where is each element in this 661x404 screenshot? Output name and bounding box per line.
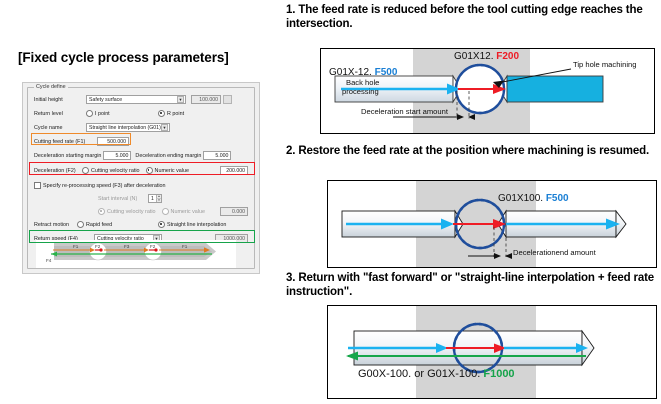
decel-f2-opt2-label: Numeric value xyxy=(155,168,189,174)
svg-text:F2: F2 xyxy=(95,244,101,249)
anno-deceleration-end-amount: Decelerationend amount xyxy=(513,248,596,257)
f3-option-ratio[interactable]: Cutting velocity ratio xyxy=(98,208,156,215)
initial-height-combo[interactable]: Safety surface ▼ xyxy=(86,95,186,104)
row-cutting-feed-rate: Cutting feed rate (F1) 500.000 xyxy=(34,136,248,147)
radio-icon[interactable] xyxy=(158,221,165,228)
radio-icon[interactable] xyxy=(162,208,169,215)
decel-end-label: Deceleration ending margin xyxy=(135,153,201,159)
cycle-define-group: Cycle define Initial height Safety surfa… xyxy=(27,87,255,269)
radio-icon[interactable] xyxy=(146,167,153,174)
step-1-code-left: G01X-12. F500 xyxy=(329,67,397,78)
radio-icon[interactable] xyxy=(98,208,105,215)
row-deceleration-margins: Deceleration starting margin 5.000 Decel… xyxy=(34,150,248,161)
radio-icon[interactable] xyxy=(86,110,93,117)
retract-opt2-label: Straight line interpolation xyxy=(167,222,226,228)
decel-f2-option-numeric[interactable]: Numeric value xyxy=(146,167,189,174)
browse-icon[interactable] xyxy=(223,95,232,104)
retract-opt1-label: Rapid feed xyxy=(86,222,112,228)
svg-text:F3: F3 xyxy=(124,244,130,249)
svg-text:F2: F2 xyxy=(150,244,156,249)
code-text: G00X-100. or G01X-100. xyxy=(358,368,483,380)
row-deceleration-f2: Deceleration (F2) Cutting velocity ratio… xyxy=(34,165,248,176)
row-initial-height: Initial height Safety surface ▼ 100.000 xyxy=(34,94,248,105)
radio-icon[interactable] xyxy=(158,110,165,117)
step-3-panel: G00X-100. or G01X-100. F1000 xyxy=(327,305,657,399)
step-3-code: G00X-100. or G01X-100. F1000 xyxy=(358,368,515,380)
row-f3-options: Cutting velocity ratio Numeric value 0.0… xyxy=(34,206,248,217)
feed-value: F500 xyxy=(375,67,398,78)
retract-option-straight[interactable]: Straight line interpolation xyxy=(158,221,226,228)
anno-processing: processing xyxy=(342,87,379,96)
feed-value: F500 xyxy=(546,193,569,204)
feed-value: F1000 xyxy=(483,368,514,380)
return-level-label: Return level xyxy=(34,111,86,117)
decel-end-input[interactable]: 5.000 xyxy=(203,151,231,160)
decel-f2-label: Deceleration (F2) xyxy=(34,168,82,174)
decel-f2-option-ratio[interactable]: Cutting velocity ratio xyxy=(82,167,140,174)
left-column: [Fixed cycle process parameters] Cycle d… xyxy=(0,0,282,404)
row-cycle-name: Cycle name Straight line interpolation (… xyxy=(34,122,248,133)
return-level-opt2-label: R point xyxy=(167,111,184,117)
step-2-code: G01X100. F500 xyxy=(498,193,569,204)
code-text: G01X12. xyxy=(454,51,496,62)
feed-rate-strip-diagram: F1 F2 F3 F2 F1 F4 xyxy=(36,240,236,268)
retract-option-rapid[interactable]: Rapid feed xyxy=(77,221,152,228)
initial-height-label: Initial height xyxy=(34,97,86,103)
code-text: G01X-12. xyxy=(329,67,375,78)
chevron-down-icon[interactable]: ▼ xyxy=(177,96,184,103)
f3-opt2-label: Numeric value xyxy=(171,209,205,215)
stepper-down-icon[interactable]: ▼ xyxy=(156,199,161,202)
return-level-option-i-point[interactable]: I point xyxy=(86,110,152,117)
anno-tip-hole-machining: Tip hole machining xyxy=(573,60,636,69)
step-1-panel: G01X-12. F500 G01X12. F200 Tip hole mach… xyxy=(320,48,655,134)
checkbox-icon[interactable] xyxy=(34,182,41,189)
step-3-heading: 3. Return with "fast forward" or "straig… xyxy=(286,272,658,299)
row-retract-motion: Retract motion Rapid feed Straight line … xyxy=(34,219,248,230)
row-return-level: Return level I point R point xyxy=(34,108,248,119)
group-title: Cycle define xyxy=(34,84,68,90)
f3-option-numeric[interactable]: Numeric value xyxy=(162,208,205,215)
cycle-parameters-dialog: Cycle define Initial height Safety surfa… xyxy=(22,82,260,274)
specify-f3-label: Specify re-processing speed (F3) after d… xyxy=(43,183,166,189)
retract-label: Retract motion xyxy=(34,222,77,228)
strip-diagram-svg: F1 F2 F3 F2 F1 F4 xyxy=(36,240,236,268)
step-2-heading: 2. Restore the feed rate at the position… xyxy=(286,145,658,159)
row-start-interval: Start interval (N) 1 ▲▼ xyxy=(34,193,248,204)
cycle-name-combo[interactable]: Straight line interpolation (G01) ▼ xyxy=(86,123,170,132)
step-2-diagram xyxy=(328,181,658,269)
start-interval-value: 1 xyxy=(151,196,154,202)
f3-value-input[interactable]: 0.000 xyxy=(220,207,248,216)
f3-opt1-label: Cutting velocity ratio xyxy=(107,209,156,215)
cutting-feed-input[interactable]: 500.000 xyxy=(97,137,129,146)
svg-text:F1: F1 xyxy=(73,244,79,249)
svg-text:F4: F4 xyxy=(46,258,52,263)
decel-start-label: Deceleration starting margin xyxy=(34,153,101,159)
decel-f2-input[interactable]: 200.000 xyxy=(220,166,248,175)
row-specify-f3: Specify re-processing speed (F3) after d… xyxy=(34,180,248,191)
step-2-panel: G01X100. F500 Decelerationend amount xyxy=(327,180,657,268)
decel-f2-opt1-label: Cutting velocity ratio xyxy=(91,168,140,174)
code-text: G01X100. xyxy=(498,193,546,204)
start-interval-label: Start interval (N) xyxy=(98,196,148,202)
cycle-name-value: Straight line interpolation (G01) xyxy=(89,125,161,131)
right-column: 1. The feed rate is reduced before the t… xyxy=(282,0,661,404)
anno-back-hole: Back hole xyxy=(346,78,379,87)
radio-icon[interactable] xyxy=(82,167,89,174)
return-level-option-r-point[interactable]: R point xyxy=(158,110,184,117)
start-interval-stepper[interactable]: 1 ▲▼ xyxy=(148,194,162,203)
initial-height-value: Safety surface xyxy=(89,97,122,103)
cycle-name-label: Cycle name xyxy=(34,125,86,131)
anno-deceleration-start-amount: Deceleration start amount xyxy=(361,107,448,116)
feed-value: F200 xyxy=(496,51,519,62)
svg-text:F1: F1 xyxy=(182,244,188,249)
chevron-down-icon[interactable]: ▼ xyxy=(161,124,168,131)
step-1-heading: 1. The feed rate is reduced before the t… xyxy=(286,4,658,31)
specify-f3-checkbox-option[interactable]: Specify re-processing speed (F3) after d… xyxy=(34,182,166,189)
step-1-code-right: G01X12. F200 xyxy=(454,51,519,62)
return-level-opt1-label: I point xyxy=(95,111,110,117)
stepper-buttons[interactable]: ▲▼ xyxy=(156,195,161,202)
radio-icon[interactable] xyxy=(77,221,84,228)
cutting-feed-label: Cutting feed rate (F1) xyxy=(34,139,97,145)
page-title: [Fixed cycle process parameters] xyxy=(18,50,229,65)
step-3-diagram xyxy=(328,306,658,400)
decel-start-input[interactable]: 5.000 xyxy=(103,151,131,160)
initial-height-number[interactable]: 100.000 xyxy=(191,95,221,104)
